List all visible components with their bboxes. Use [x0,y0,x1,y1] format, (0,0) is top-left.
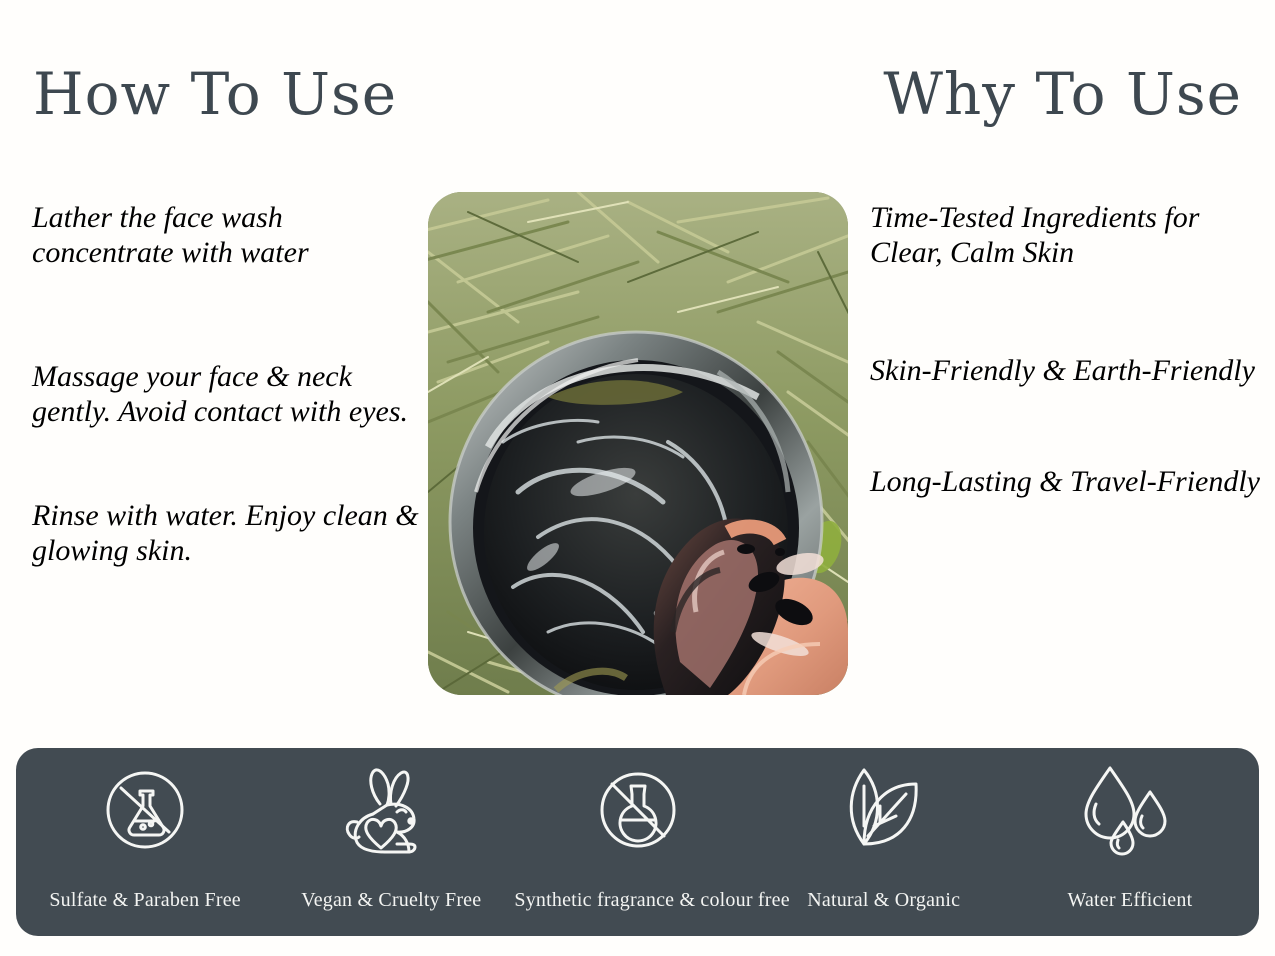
why-to-use-benefit-2: Skin-Friendly & Earth-Friendly [870,353,1265,388]
leaves-icon [834,762,934,858]
badge-label: Synthetic fragrance & colour free [514,889,760,912]
badge-sulfate-paraben-free: Sulfate & Paraben Free [22,748,268,936]
badge-natural-organic: Natural & Organic [761,748,1007,936]
badge-label: Sulfate & Paraben Free [22,889,268,912]
why-to-use-benefit-3: Long-Lasting & Travel-Friendly [870,464,1265,499]
how-to-use-step-1: Lather the face wash concentrate with wa… [32,200,422,271]
how-to-use-list: Lather the face wash concentrate with wa… [32,200,422,568]
product-photo [428,192,848,695]
badge-no-synthetic-fragrance: Synthetic fragrance & colour free [514,748,760,936]
claims-banner: Sulfate & Paraben Free [16,748,1259,936]
why-to-use-benefit-1: Time-Tested Ingredients for Clear, Calm … [870,200,1265,271]
how-to-use-step-3: Rinse with water. Enjoy clean & glowing … [32,498,422,569]
badge-water-efficient: Water Efficient [1007,748,1253,936]
infographic-page: How To Use Why To Use Lather the face wa… [0,0,1275,956]
why-to-use-heading: Why To Use [883,60,1242,128]
water-droplets-icon [1080,762,1180,858]
badge-vegan-cruelty-free: Vegan & Cruelty Free [268,748,514,936]
badge-label: Natural & Organic [761,889,1007,912]
no-fragrance-flask-icon [592,762,684,858]
badge-label: Vegan & Cruelty Free [268,889,514,912]
no-chemical-flask-icon [99,762,191,858]
why-to-use-list: Time-Tested Ingredients for Clear, Calm … [870,200,1265,500]
how-to-use-heading: How To Use [33,60,397,128]
badge-label: Water Efficient [1007,889,1253,912]
rabbit-heart-icon [339,762,443,858]
how-to-use-step-2: Massage your face & neck gently. Avoid c… [32,359,422,430]
